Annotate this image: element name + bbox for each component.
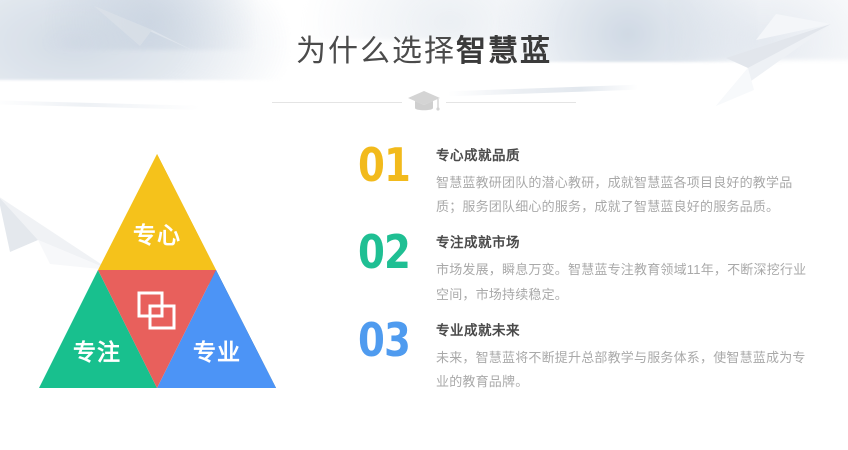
feature-list: 01 专心成就品质 智慧蓝教研团队的潜心教研，成就智慧蓝各项目良好的教学品质；服… xyxy=(358,146,828,394)
feature-text-01: 智慧蓝教研团队的潜心教研，成就智慧蓝各项目良好的教学品质；服务团队细心的服务，成… xyxy=(436,171,818,219)
pyramid-diagram: 专心 专注 专业 xyxy=(38,152,278,390)
divider xyxy=(0,89,848,115)
list-item: 03 专业成就未来 未来，智慧蓝将不断提升总部教学与服务体系，使智慧蓝成为专业的… xyxy=(358,321,828,394)
pyramid-segment-top xyxy=(98,154,216,270)
feature-title-02: 专注成就市场 xyxy=(436,235,828,251)
feature-number-01: 01 xyxy=(358,142,424,188)
list-item: 02 专注成就市场 市场发展，瞬息万变。智慧蓝专注教育领域11年，不断深挖行业空… xyxy=(358,233,828,306)
feature-title-01: 专心成就品质 xyxy=(436,148,828,164)
feature-title-03: 专业成就未来 xyxy=(436,323,828,339)
page-title-normal: 为什么选择 xyxy=(296,35,456,68)
feature-text-02: 市场发展，瞬息万变。智慧蓝专注教育领域11年，不断深挖行业空间，市场持续稳定。 xyxy=(436,258,818,306)
feature-number-03: 03 xyxy=(358,317,424,363)
list-item: 01 专心成就品质 智慧蓝教研团队的潜心教研，成就智慧蓝各项目良好的教学品质；服… xyxy=(358,146,828,219)
graduation-cap-icon xyxy=(402,89,446,115)
feature-text-03: 未来，智慧蓝将不断提升总部教学与服务体系，使智慧蓝成为专业的教育品牌。 xyxy=(436,346,818,394)
feature-number-02: 02 xyxy=(358,229,424,275)
pyramid-label-bottom-right: 专业 xyxy=(193,339,241,365)
pyramid-label-bottom-left: 专注 xyxy=(73,339,121,365)
page-title: 为什么选择智慧蓝 xyxy=(0,34,848,70)
page-title-brand: 智慧蓝 xyxy=(456,35,552,68)
divider-line-left xyxy=(272,102,402,103)
pyramid-label-top: 专心 xyxy=(133,222,181,248)
header-section: 为什么选择智慧蓝 xyxy=(0,34,848,115)
divider-line-right xyxy=(446,102,576,103)
